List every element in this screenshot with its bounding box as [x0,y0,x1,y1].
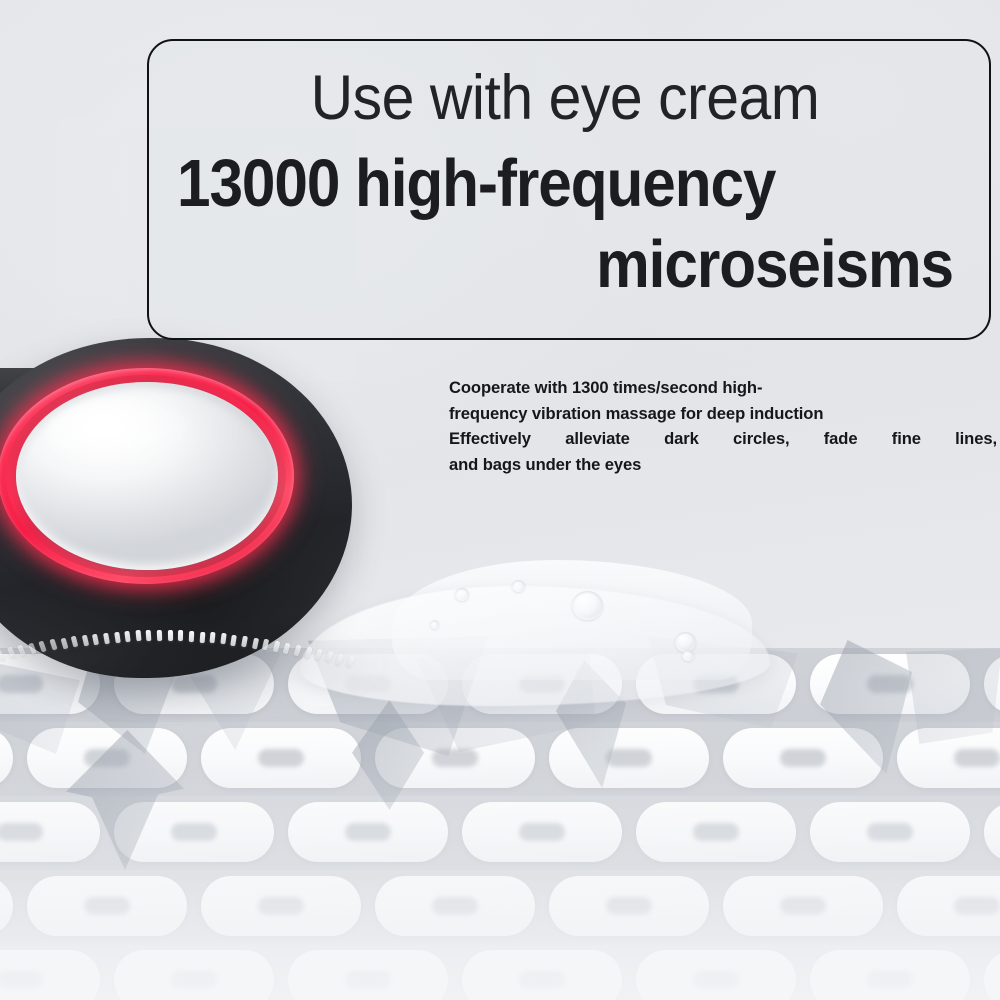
bristle-tooth [71,636,79,648]
key-pill [723,728,883,788]
headline-line-1: Use with eye cream [202,65,928,132]
description-line-2: frequency vibration massage for deep ind… [449,401,997,427]
key-pill [984,654,1000,714]
bristle-tooth [60,637,68,649]
key-row [0,722,1000,796]
bristle-tooth [146,630,152,641]
key-pill [462,802,622,862]
bristle-tooth [168,630,173,641]
bristle-tooth [335,653,344,665]
bristle-tooth [304,647,312,659]
key-pill [114,950,274,1000]
key-pill [636,802,796,862]
bristle-tooth [189,631,194,642]
key-pill [288,802,448,862]
bristle-tooth [157,630,162,641]
bristle-tooth [39,641,47,653]
key-pill [27,728,187,788]
description-line-1: Cooperate with 1300 times/second high- [449,375,997,401]
bristle-tooth [262,639,269,651]
bristle-tooth [220,633,226,645]
bristle-tooth [28,643,37,655]
water-droplet [675,632,696,652]
feature-description: Cooperate with 1300 times/second high- f… [449,375,997,477]
key-pill [984,802,1000,862]
key-pill [810,654,970,714]
description-line-3: Effectively alleviate dark circles, fade… [449,426,997,452]
device-bristles [0,630,348,670]
product-banner: Use with eye cream 13000 high-frequency … [0,0,1000,1000]
bristle-tooth [82,634,89,646]
key-pill [288,950,448,1000]
key-row [0,796,1000,870]
key-pill [723,876,883,936]
key-pill [549,728,709,788]
headline-line-2: 13000 high-frequency [177,148,875,219]
bristle-tooth [135,630,141,641]
bristle-tooth [125,631,131,643]
eye-massager-device [0,330,440,690]
key-pill [27,876,187,936]
bristle-tooth [251,637,258,649]
key-pill [984,950,1000,1000]
key-pill [897,876,1000,936]
key-pill [462,950,622,1000]
key-row [0,870,1000,944]
bristle-tooth [283,642,291,654]
bristle-tooth [241,636,248,648]
key-pill [114,802,274,862]
water-droplet [455,588,469,601]
key-pill [897,728,1000,788]
headline-card: Use with eye cream 13000 high-frequency … [147,39,991,340]
key-pill [0,728,13,788]
key-pill [810,950,970,1000]
key-pill [375,876,535,936]
bristle-tooth [293,644,301,656]
key-pill [201,728,361,788]
key-pill [636,950,796,1000]
bristle-tooth [103,632,110,644]
bristle-tooth [0,649,5,661]
bristle-tooth [114,631,121,643]
bristle-tooth [7,647,16,659]
water-droplet [572,591,603,620]
bristle-tooth [325,651,334,663]
key-pill [549,876,709,936]
description-line-4: and bags under the eyes [449,452,997,478]
key-pill [0,950,100,1000]
bristle-tooth [272,641,280,653]
key-pill [810,802,970,862]
massage-plate-highlight [44,398,194,472]
headline-line-3: microseisms [255,229,953,300]
bristle-tooth [314,649,323,661]
bristle-tooth [231,634,238,646]
bristle-tooth [17,645,26,657]
water-droplet [512,580,525,592]
key-pill [0,802,100,862]
bristle-tooth [49,639,57,651]
key-row [0,944,1000,1000]
bristle-tooth [92,633,99,645]
key-pill [0,876,13,936]
water-droplet [682,650,694,661]
bristle-tooth [178,630,183,641]
bristle-tooth [199,631,205,642]
key-pill [375,728,535,788]
bristle-tooth [210,632,216,643]
key-pill [201,876,361,936]
